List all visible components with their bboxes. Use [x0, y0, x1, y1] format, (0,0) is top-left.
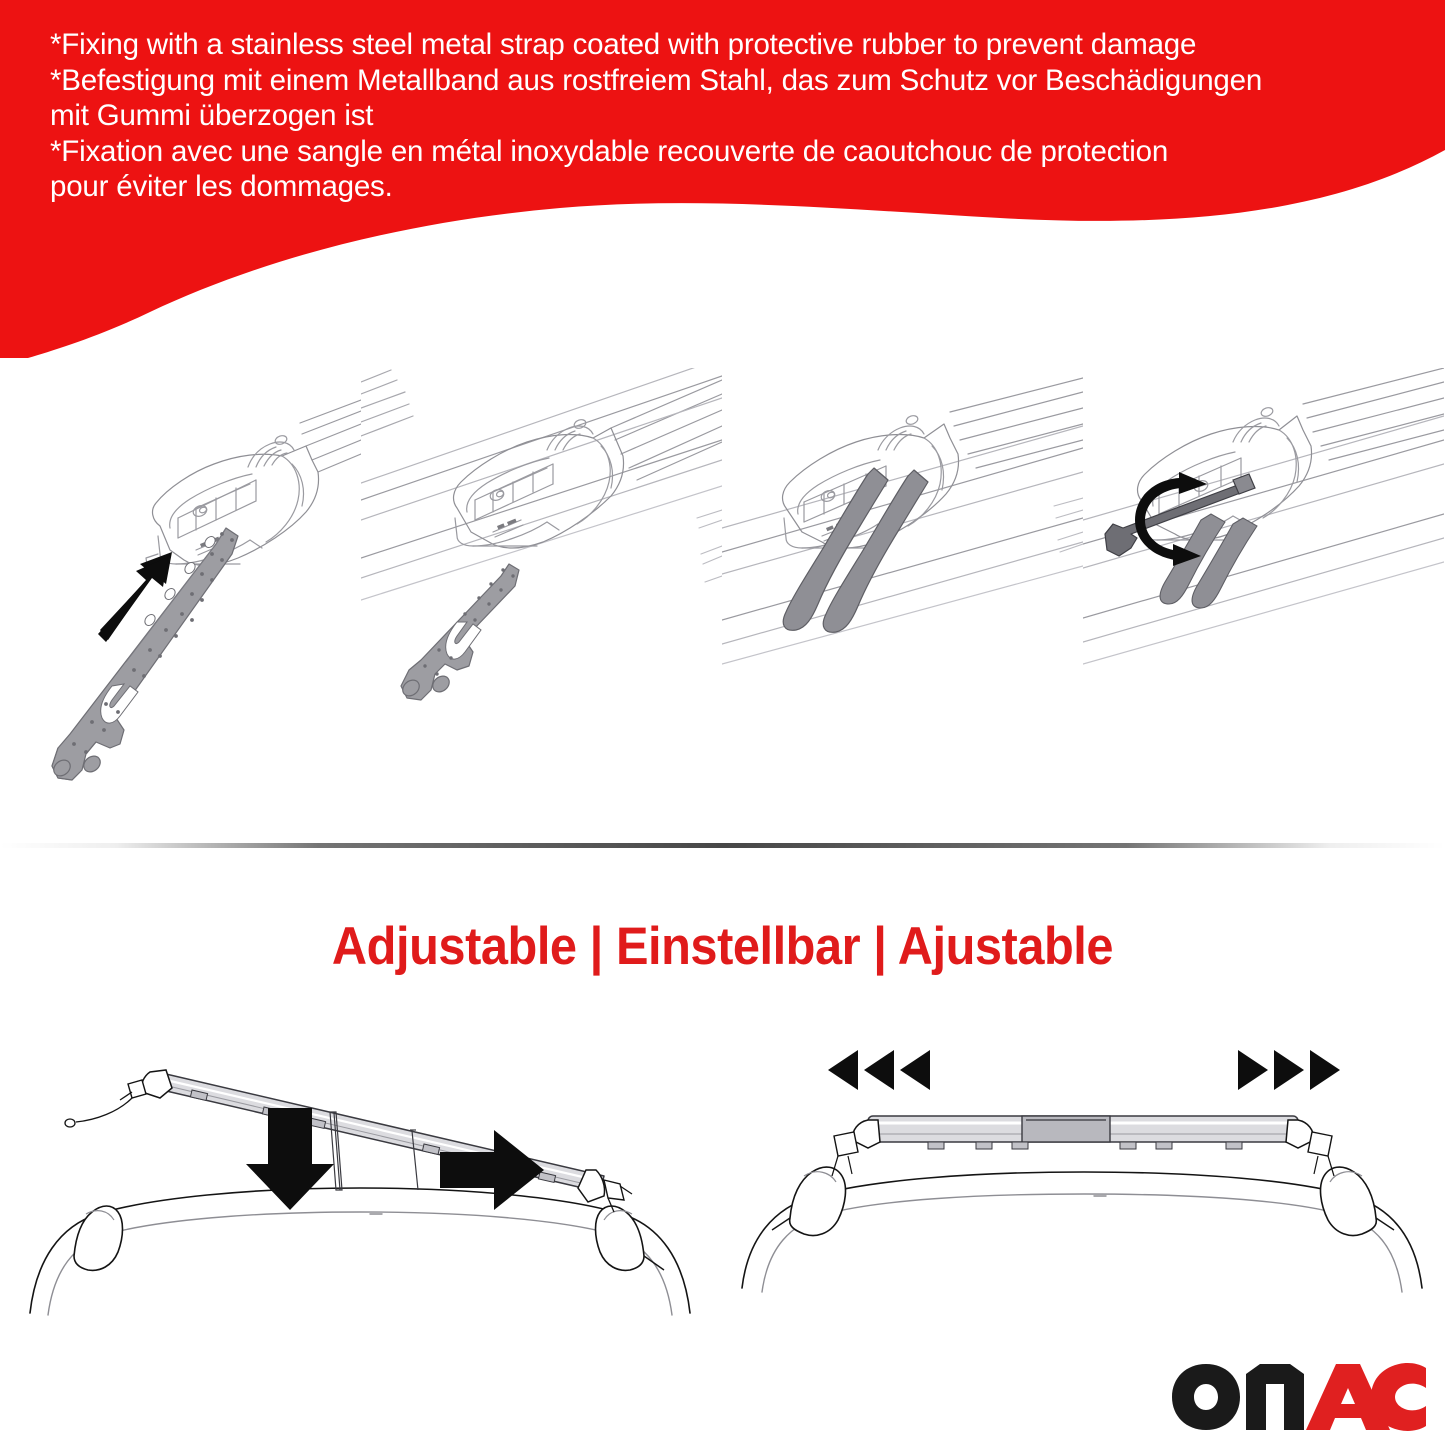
step-2-foot-on-rail [361, 368, 722, 818]
metal-strap [400, 564, 519, 700]
roof-rail-left [772, 1167, 845, 1235]
bottom-diagram-row [0, 1030, 1445, 1330]
crossbar-lowering-diagram [0, 1030, 722, 1330]
crossbar-width-illustration [722, 1030, 1444, 1330]
banner-text: *Fixing with a stainless steel metal str… [50, 27, 1420, 205]
omac-logo [1168, 1362, 1430, 1432]
section-divider [0, 843, 1445, 848]
roof-rail-right [1321, 1167, 1394, 1235]
step-4-illustration [1083, 368, 1444, 818]
step-3-strap-wrapped [722, 368, 1083, 818]
omac-logo-mark [1168, 1362, 1430, 1432]
crossbar [832, 1116, 1334, 1176]
step-3-illustration [722, 368, 1083, 818]
step-2-illustration [361, 368, 722, 818]
crossbar-lowering-illustration [0, 1030, 722, 1330]
crossbar-width-adjust-diagram [722, 1030, 1444, 1330]
step-1-strap-insert [0, 368, 361, 818]
triple-left-arrow-icon [828, 1050, 930, 1090]
triple-right-arrow-icon [1238, 1050, 1340, 1090]
crossbar [65, 1070, 632, 1212]
roof-rail-right [596, 1206, 665, 1270]
step-1-illustration [0, 368, 361, 818]
installation-steps-strip [0, 368, 1445, 818]
red-banner: *Fixing with a stainless steel metal str… [0, 0, 1445, 360]
adjustable-heading: Adjustable | Einstellbar | Ajustable [58, 916, 1387, 977]
step-4-allen-key-tighten [1083, 368, 1444, 818]
roof-rail-left [74, 1206, 123, 1270]
infographic-page: *Fixing with a stainless steel metal str… [0, 0, 1445, 1445]
